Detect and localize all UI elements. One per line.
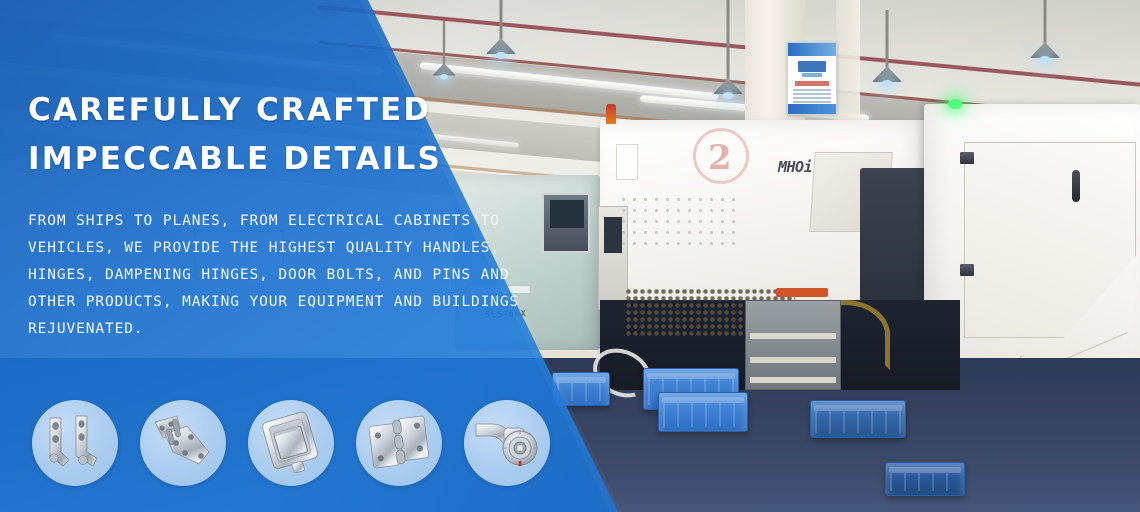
blue-crate-4	[885, 462, 965, 496]
corner-bracket-latch-icon	[40, 410, 110, 476]
product-thumb-strap-hinge[interactable]: Stainless strap hinge	[140, 400, 226, 486]
pendant-lamp-5	[1028, 0, 1062, 52]
banner-description: FROM SHIPS TO PLANES, FROM ELECTRICAL CA…	[28, 208, 528, 343]
strap-hinge-icon	[147, 412, 219, 474]
product-thumb-butt-hinge[interactable]: Stainless butt hinge	[356, 400, 442, 486]
headline-line-1: CAREFULLY CRAFTED	[28, 86, 548, 135]
hero-banner: SLS-66X 2 MHOi	[0, 0, 1140, 512]
banner-content: CAREFULLY CRAFTED IMPECCABLE DETAILS FRO…	[28, 86, 548, 343]
product-thumb-cam-lock[interactable]: Quarter-turn cam lock	[464, 400, 550, 486]
shelf-cart	[745, 300, 841, 390]
pendant-lamp-2	[435, 21, 454, 71]
flush-pull-latch-icon	[257, 408, 325, 478]
orange-toolbox	[776, 288, 828, 297]
product-thumb-flush-pull-latch[interactable]: Flush pull paddle latch	[248, 400, 334, 486]
five-s-poster	[787, 42, 837, 115]
cam-lock-icon	[470, 414, 544, 472]
machine-number-label: 2	[708, 138, 732, 178]
blue-crate-2	[658, 392, 748, 432]
pendant-lamp-4	[872, 10, 902, 76]
machine-brand-label: MHOi	[778, 158, 812, 176]
headline-line-2: IMPECCABLE DETAILS	[28, 135, 548, 184]
blue-crate-3	[810, 400, 906, 438]
pendant-lamp-1	[486, 0, 516, 48]
product-thumb-corner-bracket-latch[interactable]: Corner bracket latch pair	[32, 400, 118, 486]
pendant-lamp-3	[713, 0, 743, 88]
product-thumbnail-list: Corner bracket latch pair	[32, 400, 550, 486]
butt-hinge-icon	[365, 411, 433, 475]
